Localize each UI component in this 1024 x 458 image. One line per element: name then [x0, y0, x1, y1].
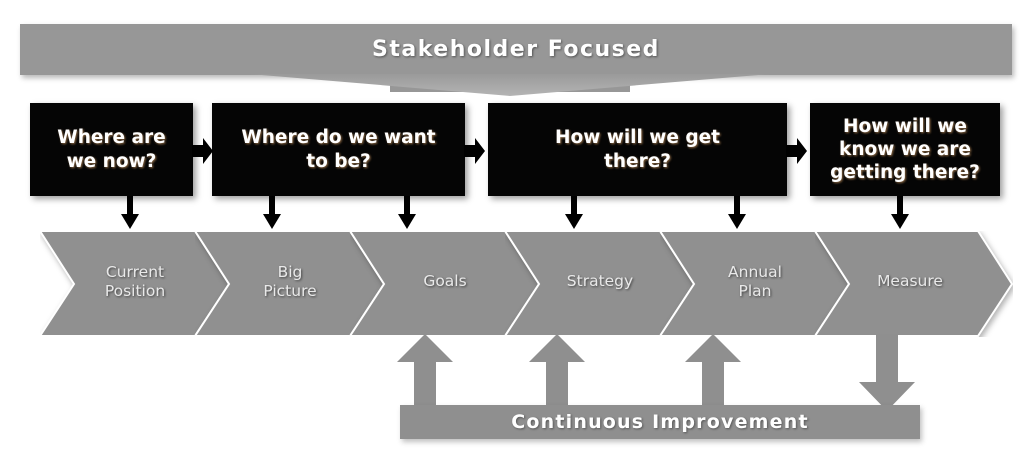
question-box-2-label: Where do we want to be? [241, 126, 435, 172]
down-arrow-icon-5 [727, 196, 747, 230]
continuous-improvement-bar: Continuous Improvement [400, 405, 920, 439]
question-box-1-label: Where are we now? [57, 126, 165, 172]
question-box-2[interactable]: Where do we want to be? [212, 103, 465, 196]
question-box-3-label: How will we get there? [555, 126, 720, 172]
down-arrow-icon-6 [890, 196, 910, 230]
diagram-canvas: Stakeholder Focused Where are we now? Wh… [0, 0, 1024, 458]
connector-arrow-right-icon-2 [464, 136, 486, 166]
stakeholder-banner-bar: Stakeholder Focused [20, 24, 1012, 75]
down-arrow-icon-4 [564, 196, 584, 230]
question-box-3[interactable]: How will we get there? [488, 103, 787, 196]
feedback-up-arrow-icon-3 [684, 334, 742, 410]
down-arrow-icon-2 [262, 196, 282, 230]
down-arrow-icon-3 [397, 196, 417, 230]
connector-arrow-right-icon-3 [786, 136, 808, 166]
question-box-1[interactable]: Where are we now? [30, 103, 193, 196]
feedback-up-arrow-icon-2 [528, 334, 586, 410]
feedback-up-arrow-icon-1 [396, 334, 454, 410]
down-arrow-icon-1 [120, 196, 140, 230]
banner-down-arrow-icon [250, 74, 770, 98]
question-box-4[interactable]: How will we know we are getting there? [810, 103, 1000, 196]
stakeholder-banner-title: Stakeholder Focused [372, 37, 660, 62]
chevron-step-6[interactable]: Measure [815, 231, 1013, 337]
stakeholder-banner: Stakeholder Focused [20, 24, 1012, 75]
continuous-improvement-label: Continuous Improvement [511, 411, 809, 433]
connector-arrow-right-icon-1 [192, 136, 214, 166]
question-box-4-label: How will we know we are getting there? [830, 115, 980, 184]
feedback-down-arrow-icon [858, 334, 916, 412]
